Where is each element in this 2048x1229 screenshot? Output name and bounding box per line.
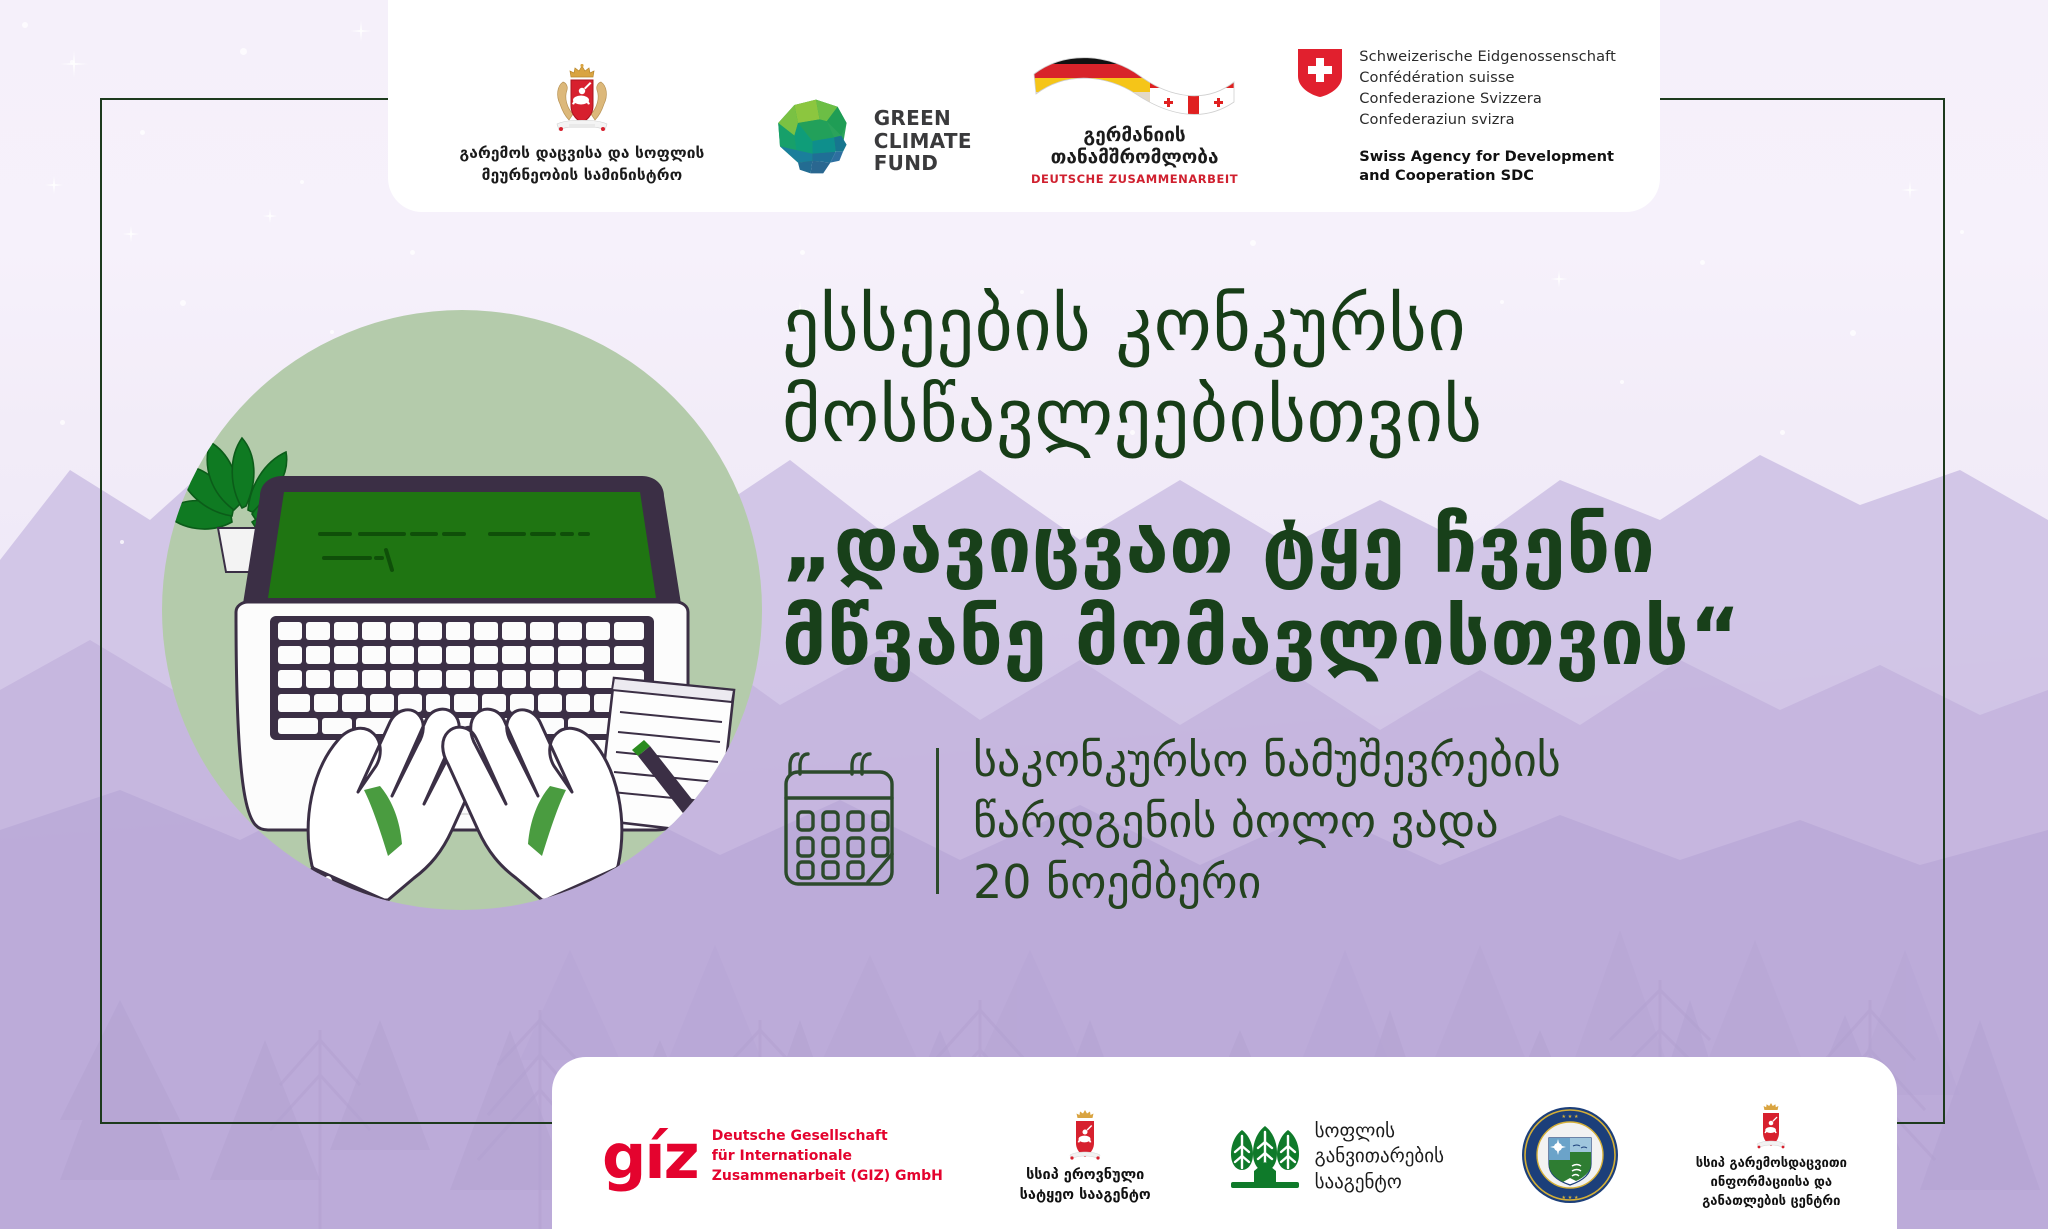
deadline-line-1: საკონკურსო ნამუშევრების	[973, 730, 1561, 791]
deadline-block: საკონკურსო ნამუშევრების წარდგენის ბოლო ვ…	[782, 730, 1972, 912]
kicker-text: ესსეების კონკურსი მოსწავლეებისთვის	[782, 280, 1972, 462]
german-coop-ka-line-1: გერმანიის	[1051, 124, 1219, 146]
georgia-coat-of-arms-icon	[1753, 1102, 1789, 1150]
agricultural-university-seal-icon: ★ ★ ★ ★ ★ ★	[1521, 1106, 1619, 1204]
eiec-label: სსიპ გარემოსდაცვითი ინფორმაციისა და განა…	[1696, 1155, 1847, 1212]
german-cooperation-ka-label: გერმანიის თანამშრომლობა	[1051, 124, 1219, 168]
nfa-label: სსიპ ეროვნული სატყეო სააგენტო	[1020, 1165, 1151, 1206]
sdc-line-1: Swiss Agency for Development	[1359, 147, 1616, 167]
deadline-text: საკონკურსო ნამუშევრების წარდგენის ბოლო ვ…	[973, 730, 1561, 912]
deadline-line-2: წარდგენის ბოლო ვადა	[973, 791, 1561, 852]
headline-line-1: „დავიცვათ ტყე ჩვენი	[782, 500, 1972, 592]
logo-german-cooperation: გერმანიის თანამშრომლობა DEUTSCHE ZUSAMME…	[1011, 52, 1259, 186]
swiss-line-1: Schweizerische Eidgenossenschaft	[1359, 46, 1616, 67]
logo-national-forestry-agency: სსიპ ეროვნული სატყეო სააგენტო	[1020, 1109, 1151, 1206]
logo-ministry-of-environment: გარემოს დაცვისა და სოფლის მეურნეობის სამ…	[432, 64, 732, 186]
deadline-divider	[936, 748, 939, 894]
kicker-line-2: მოსწავლეებისთვის	[782, 371, 1972, 462]
svg-text:★ ★ ★: ★ ★ ★	[1561, 1114, 1578, 1120]
giz-desc-line-2: für Internationale	[712, 1147, 943, 1167]
rda-line-3: სააგენტო	[1315, 1170, 1444, 1196]
eiec-line-1: სსიპ გარემოსდაცვითი	[1696, 1155, 1847, 1174]
gcf-wordmark: GREEN CLIMATE FUND	[874, 107, 972, 175]
poster-canvas: გარემოს დაცვისა და სოფლის მეურნეობის სამ…	[0, 0, 2048, 1229]
logo-rural-development-agency: სოფლის განვითარების სააგენტო	[1228, 1119, 1444, 1196]
deadline-line-3: 20 ნოემბერი	[973, 852, 1561, 913]
german-coop-ka-line-2: თანამშრომლობა	[1051, 146, 1219, 168]
logo-agricultural-seal: ★ ★ ★ ★ ★ ★	[1521, 1106, 1619, 1208]
rda-label: სოფლის განვითარების სააგენტო	[1315, 1119, 1444, 1196]
calendar-icon	[782, 750, 914, 892]
logo-environmental-info-education-center: სსიპ გარემოსდაცვითი ინფორმაციისა და განა…	[1696, 1102, 1847, 1212]
german-coop-de-label: DEUTSCHE ZUSAMMENARBEIT	[1031, 172, 1238, 186]
rda-line-2: განვითარების	[1315, 1144, 1444, 1170]
logo-swiss-sdc: Schweizerische Eidgenossenschaft Confédé…	[1297, 46, 1616, 186]
giz-desc-line-1: Deutsche Gesellschaft	[712, 1127, 943, 1147]
eiec-line-2: ინფორმაციისა და	[1696, 1174, 1847, 1193]
swiss-shield-icon	[1297, 48, 1343, 98]
gcf-line-1: GREEN	[874, 107, 972, 130]
kicker-line-1: ესსეების კონკურსი	[782, 280, 1972, 371]
giz-wordmark: gíz	[602, 1132, 698, 1182]
ministry-label: გარემოს დაცვისა და სოფლის მეურნეობის სამ…	[460, 142, 705, 186]
main-content: ესსეების კონკურსი მოსწავლეებისთვის „დავი…	[782, 280, 1972, 912]
georgia-coat-of-arms-icon	[551, 64, 613, 134]
giz-description: Deutsche Gesellschaft für Internationale…	[712, 1127, 943, 1187]
headline-title: „დავიცვათ ტყე ჩვენი მწვანე მომავლისთვის“	[782, 500, 1972, 684]
swiss-line-4: Confederaziun svizra	[1359, 109, 1616, 130]
rda-line-1: სოფლის	[1315, 1119, 1444, 1145]
ministry-line-1: გარემოს დაცვისა და სოფლის	[460, 142, 705, 164]
gcf-line-3: FUND	[874, 152, 972, 175]
sdc-line-2: and Cooperation SDC	[1359, 166, 1616, 186]
nfa-line-2: სატყეო სააგენტო	[1020, 1185, 1151, 1205]
green-climate-fund-globe-icon	[771, 96, 861, 186]
logo-green-climate-fund: GREEN CLIMATE FUND	[771, 96, 972, 186]
german-georgian-flag-ribbon-icon	[1030, 52, 1240, 122]
swiss-confederation-names: Schweizerische Eidgenossenschaft Confédé…	[1359, 46, 1616, 131]
swiss-sdc-label: Swiss Agency for Development and Coopera…	[1359, 147, 1616, 186]
person-typing-on-laptop-illustration	[152, 300, 772, 920]
nfa-line-1: სსიპ ეროვნული	[1020, 1165, 1151, 1185]
gcf-line-2: CLIMATE	[874, 130, 972, 153]
giz-desc-line-3: Zusammenarbeit (GIZ) GmbH	[712, 1167, 943, 1187]
top-partner-logo-bar: გარემოს დაცვისა და სოფლის მეურნეობის სამ…	[388, 0, 1660, 212]
ministry-line-2: მეურნეობის სამინისტრო	[460, 164, 705, 186]
georgia-coat-of-arms-icon	[1065, 1109, 1105, 1161]
swiss-line-3: Confederazione Svizzera	[1359, 88, 1616, 109]
three-trees-house-icon	[1228, 1126, 1302, 1188]
headline-line-2: მწვანე მომავლისთვის“	[782, 592, 1972, 684]
swiss-line-2: Confédération suisse	[1359, 67, 1616, 88]
bottom-partner-logo-bar: gíz Deutsche Gesellschaft für Internatio…	[552, 1057, 1897, 1229]
logo-giz: gíz Deutsche Gesellschaft für Internatio…	[602, 1127, 943, 1187]
eiec-line-3: განათლების ცენტრი	[1696, 1193, 1847, 1212]
svg-text:★ ★ ★: ★ ★ ★	[1561, 1195, 1578, 1201]
